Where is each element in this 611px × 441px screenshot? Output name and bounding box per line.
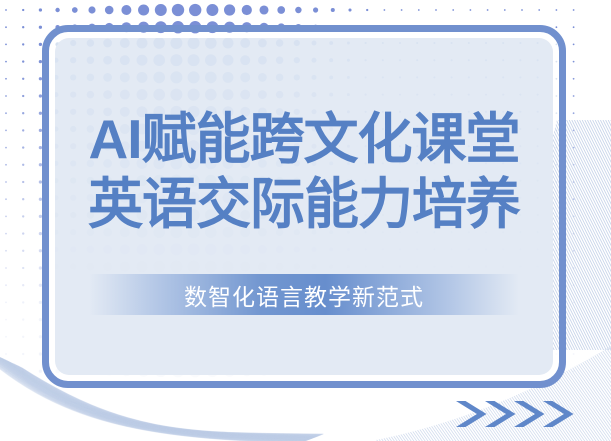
poster-title-line-1: AI赋能跨文化课堂 xyxy=(88,111,519,167)
poster-title-line-2: 英语交际能力培养 xyxy=(88,176,520,232)
subtitle-banner: 数智化语言教学新范式 xyxy=(89,274,519,315)
poster-canvas: AI赋能跨文化课堂 英语交际能力培养 数智化语言教学新范式 xyxy=(0,0,611,441)
chevron-arrows-icon xyxy=(456,399,589,429)
poster-subtitle: 数智化语言教学新范式 xyxy=(184,278,424,312)
